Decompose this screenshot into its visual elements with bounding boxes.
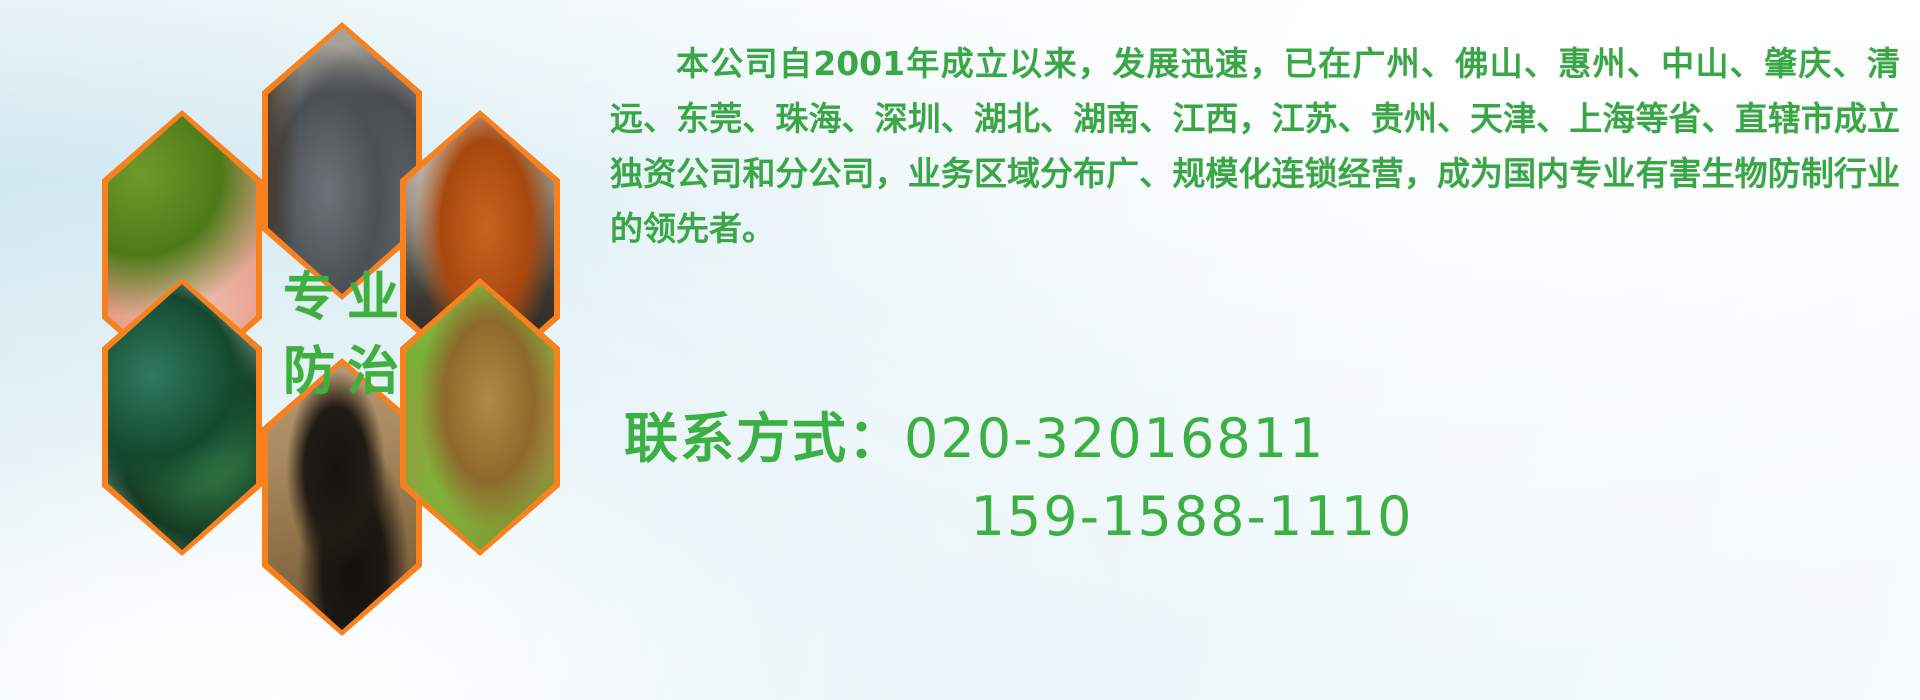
badge-line-2: 防治 bbox=[271, 346, 411, 398]
contact-phone-landline[interactable]: 020-32016811 bbox=[904, 407, 1325, 470]
pest-control-banner: 专业 防治 本公司自2001年成立以来，发展迅速，已在广州、佛山、惠州、中山、肇… bbox=[0, 0, 1920, 700]
honeycomb-center-badge: 专业 防治 bbox=[251, 190, 431, 480]
contact-block: 联系方式：020-32016811 159-1588-1110 bbox=[624, 400, 1920, 556]
company-description-paragraph: 本公司自2001年成立以来，发展迅速，已在广州、佛山、惠州、中山、肇庆、清远、东… bbox=[610, 36, 1900, 256]
contact-phone-mobile[interactable]: 159-1588-1110 bbox=[624, 478, 1920, 556]
photo-green-bottle-flies bbox=[108, 284, 256, 550]
contact-primary-line: 联系方式：020-32016811 bbox=[624, 400, 1920, 478]
contact-label: 联系方式： bbox=[624, 407, 904, 470]
hex-inner bbox=[108, 284, 256, 550]
honeycomb-photo-collage: 专业 防治 bbox=[0, 0, 620, 700]
company-copy-block: 本公司自2001年成立以来，发展迅速，已在广州、佛山、惠州、中山、肇庆、清远、东… bbox=[610, 36, 1900, 256]
badge-line-1: 专业 bbox=[271, 272, 411, 324]
